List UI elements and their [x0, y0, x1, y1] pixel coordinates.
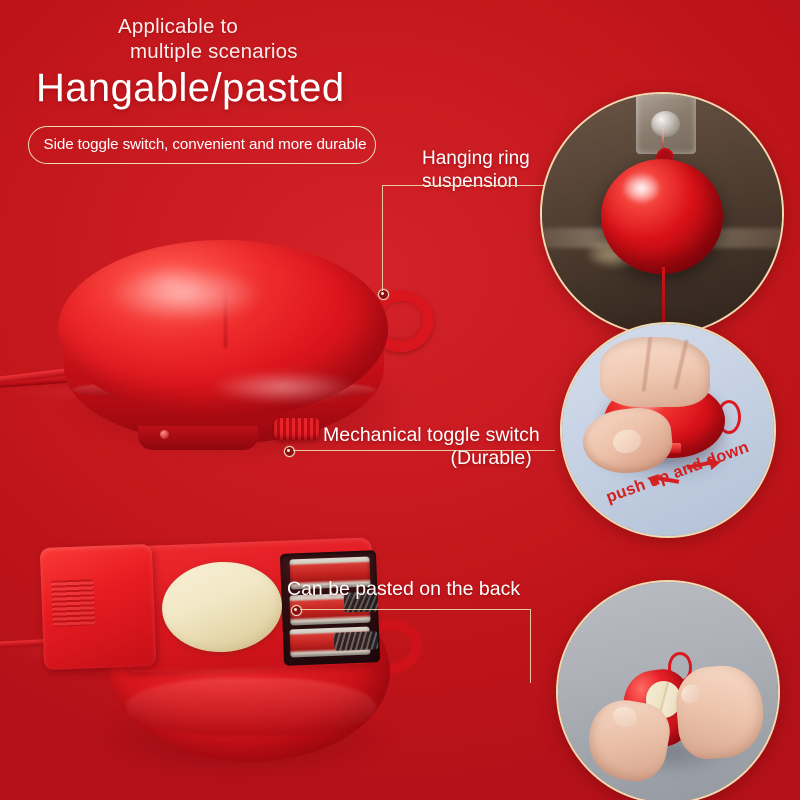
callout-line-adhesive-horizontal	[300, 609, 530, 610]
callout-adhesive-back: Can be pasted on the back	[287, 578, 520, 601]
hand-right-peeling	[673, 662, 767, 762]
callout-hanging-ring-line1: Hanging ring	[422, 147, 530, 170]
photo-ball-on-hook	[540, 92, 784, 336]
hand-fingers	[600, 337, 710, 407]
callout-hanging-ring: Hanging ring suspension	[422, 147, 530, 193]
callout-hanging-ring-line2: suspension	[422, 170, 530, 193]
product-base-dot	[160, 430, 169, 439]
callout-toggle-switch-line1: Mechanical toggle switch	[323, 424, 540, 447]
callout-line-toggle-switch	[293, 450, 555, 451]
product-top-dome	[58, 240, 388, 418]
callout-line-hanging-ring-horizontal	[382, 185, 562, 186]
photo-peeling-adhesive-scene	[558, 582, 778, 800]
product-disc-lip	[126, 678, 376, 736]
photo-hand-pushing-switch-scene: push up and down	[562, 324, 774, 536]
product-highlight-main	[110, 266, 260, 322]
photo-hand-pushing-switch: push up and down	[560, 322, 776, 538]
photo-peeling-adhesive	[556, 580, 780, 800]
toggle-switch-ribbed	[274, 418, 320, 440]
callout-line-hanging-ring-vertical	[382, 185, 383, 291]
product-highlight-secondary	[208, 370, 358, 404]
kicker-line-1: Applicable to	[118, 15, 238, 38]
photo-ball-on-hook-scene	[542, 94, 782, 334]
callout-marker-adhesive-back	[291, 605, 302, 616]
battery-cover-grip-ribs	[51, 579, 95, 627]
red-ball-device	[601, 159, 723, 274]
product-photo-back-view	[14, 528, 454, 778]
callout-line-adhesive-vertical	[530, 609, 531, 683]
callout-adhesive-back-line1: Can be pasted on the back	[287, 578, 520, 601]
infographic-canvas: Applicable to multiple scenarios Hangabl…	[0, 0, 800, 800]
callout-marker-toggle-switch	[284, 446, 295, 457]
arrow-left-icon	[646, 473, 659, 487]
callout-marker-hanging-ring	[378, 289, 389, 300]
product-base-foot	[138, 426, 258, 450]
page-title: Hangable/pasted	[36, 64, 344, 112]
feature-pill-label: Side toggle switch, convenient and more …	[31, 133, 379, 157]
callout-toggle-switch: Mechanical toggle switch (Durable)	[323, 424, 540, 470]
hook-knob-icon	[651, 111, 680, 137]
kicker-text: Applicable to multiple scenarios	[118, 14, 298, 64]
kicker-line-2: multiple scenarios	[118, 39, 298, 64]
battery-spring	[334, 631, 379, 651]
